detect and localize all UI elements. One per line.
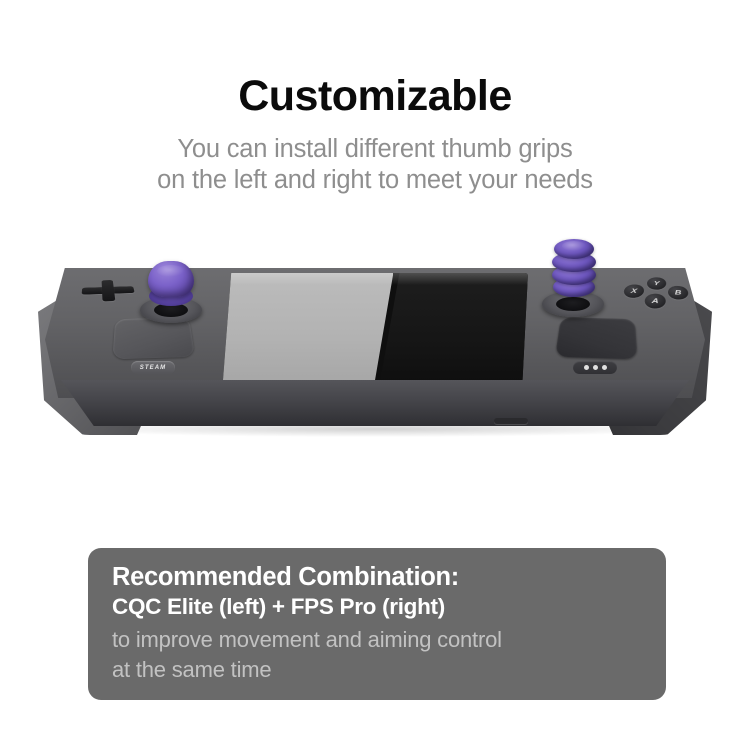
device-illustration: Y X B A STEAM xyxy=(0,225,750,490)
steam-button[interactable]: STEAM xyxy=(131,361,175,374)
caption-combination: CQC Elite (left) + FPS Pro (right) xyxy=(112,592,644,621)
recommended-combination-box: Recommended Combination: CQC Elite (left… xyxy=(88,548,666,700)
screen-right-half xyxy=(375,273,528,393)
left-thumb-grip-cqc-elite[interactable] xyxy=(148,261,194,313)
screen-glare xyxy=(222,273,528,285)
left-trackpad[interactable] xyxy=(112,317,195,359)
dpad-vertical-arm xyxy=(102,280,116,301)
device-front-lip xyxy=(48,380,702,426)
right-trackpad[interactable] xyxy=(555,317,638,359)
caption-benefit-line-2: at the same time xyxy=(112,655,644,685)
device-screen xyxy=(222,273,528,393)
dot-3-icon xyxy=(602,365,607,370)
caption-benefit-line-1: to improve movement and aiming control xyxy=(112,625,644,655)
right-thumb-grip-fps-pro[interactable] xyxy=(552,239,596,305)
subtitle-line-1: You can install different thumb grips xyxy=(0,134,750,165)
subtitle-block: You can install different thumb grips on… xyxy=(0,134,750,196)
port-slot xyxy=(494,418,528,424)
dpad[interactable] xyxy=(81,279,137,302)
subtitle-line-2: on the left and right to meet your needs xyxy=(0,165,750,196)
quick-access-button[interactable] xyxy=(573,361,617,374)
button-y[interactable]: Y xyxy=(646,277,666,290)
page-title: Customizable xyxy=(0,74,750,119)
dot-2-icon xyxy=(593,365,598,370)
left-grip-highlight xyxy=(157,265,185,277)
button-a[interactable]: A xyxy=(644,293,666,309)
dot-1-icon xyxy=(584,365,589,370)
screen-left-half xyxy=(222,273,393,393)
caption-heading: Recommended Combination: xyxy=(112,562,644,592)
steam-button-label: STEAM xyxy=(140,365,167,371)
button-x[interactable]: X xyxy=(622,284,644,298)
right-grip-highlight xyxy=(562,241,586,251)
face-buttons[interactable]: Y X B A xyxy=(620,276,689,308)
product-infographic: Customizable You can install different t… xyxy=(0,0,750,750)
button-b[interactable]: B xyxy=(668,286,689,300)
